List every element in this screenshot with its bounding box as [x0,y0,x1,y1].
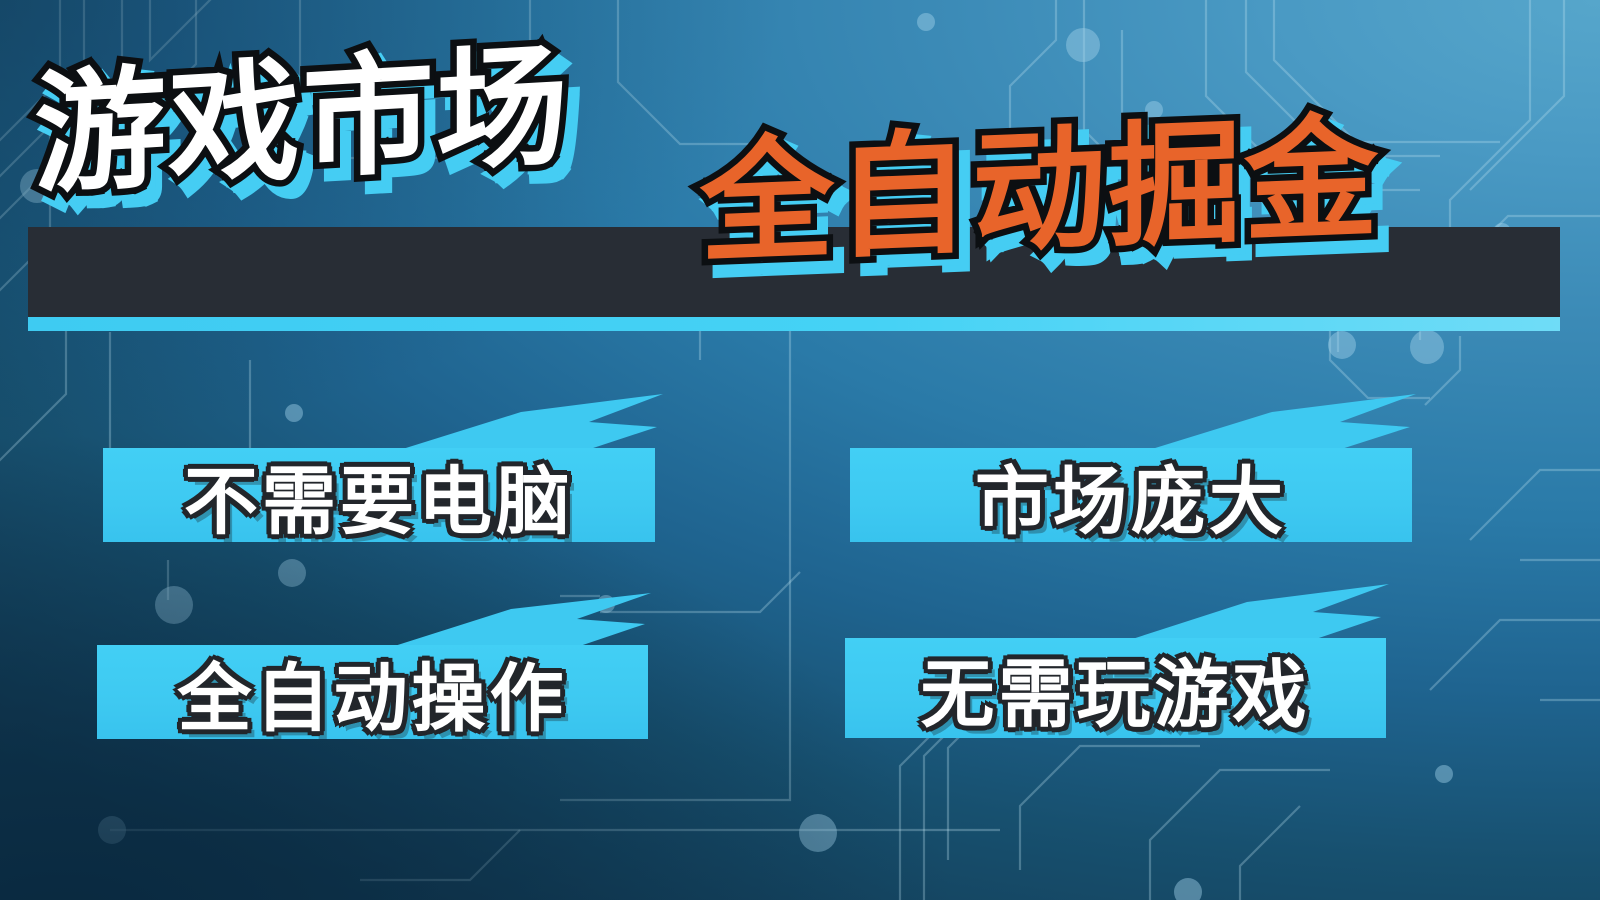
feature-box-2: 全自动操作 [97,645,648,739]
feature-box-3: 无需玩游戏 [845,638,1386,738]
promo-poster: 游戏市场 游戏市场 游戏市场 全自动掘金 全自动掘金 全自动掘金 不需要电脑 市… [0,0,1600,900]
title-banner-underline [28,317,1560,331]
page-subtitle-fill: 全自动掘金 [700,112,1380,272]
feature-box-0: 不需要电脑 [103,448,655,542]
feature-box-1: 市场庞大 [850,448,1412,542]
page-title-fill: 游戏市场 [34,40,570,202]
feature-box-3-label: 无需玩游戏 [845,638,1386,738]
feature-box-0-label: 不需要电脑 [103,448,655,542]
feature-box-2-label: 全自动操作 [97,645,648,739]
feature-box-1-label: 市场庞大 [850,448,1412,542]
